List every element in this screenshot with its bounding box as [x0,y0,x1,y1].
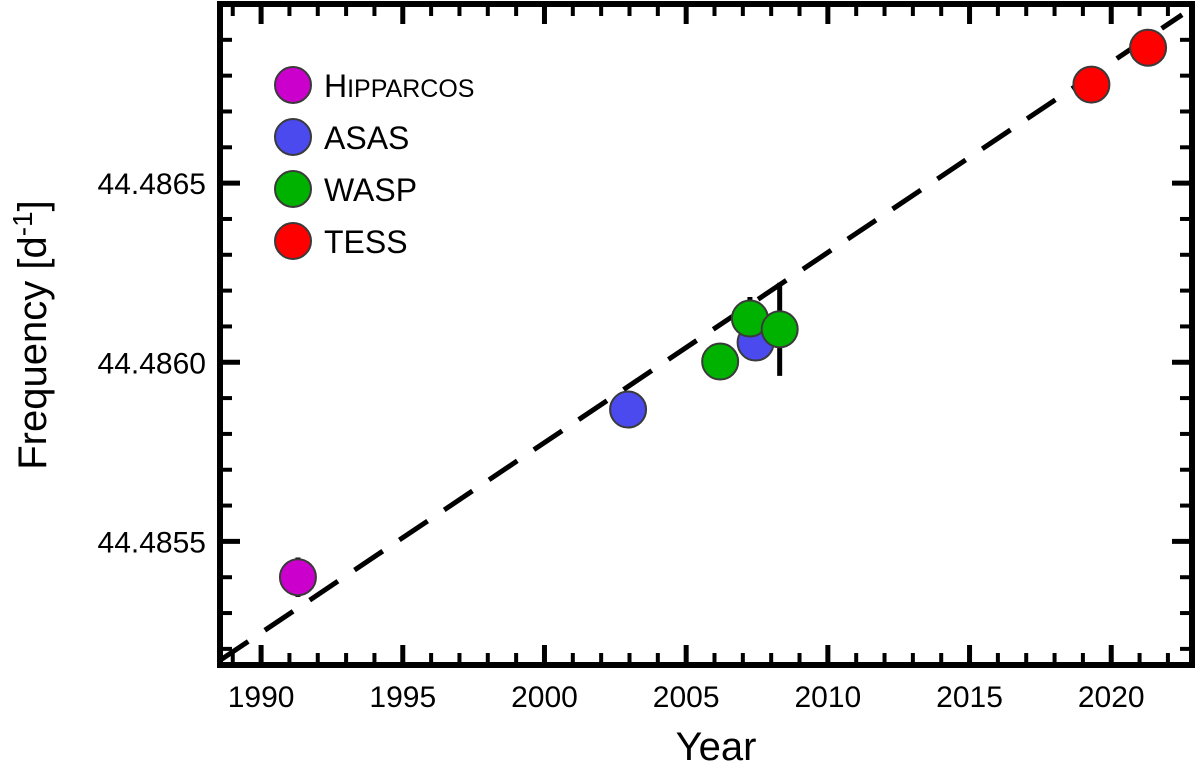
x-tick-label: 2015 [936,681,1003,714]
y-axis-title-tail: ] [11,200,55,211]
legend-marker-wasp [275,171,311,207]
x-tick-label: 2010 [794,681,861,714]
legend-marker-tess [275,223,311,259]
data-point-tess [1073,67,1109,103]
legend-marker-asas [275,119,311,155]
frequency-vs-year-scatter-plot: 1990199520002005201020152020 44.485544.4… [0,0,1200,770]
x-axis-title: Year [676,725,757,769]
x-tick-label: 1990 [228,681,295,714]
data-point-tess [1130,30,1166,66]
y-axis-title: Frequency [d-1] [7,200,55,470]
y-tick-label: 44.4860 [98,347,206,380]
svg-text:Frequency [d-1]: Frequency [d-1] [7,200,55,470]
legend-label-asas: ASAS [324,120,409,156]
x-tick-label: 1995 [369,681,436,714]
data-point-asas [610,392,646,428]
y-tick-label: 44.4855 [98,526,206,559]
x-tick-label: 2005 [653,681,720,714]
legend-label-tess: TESS [324,224,408,260]
legend-label-wasp: WASP [324,172,417,208]
data-point-hipparcos [280,559,316,595]
chart-figure: 1990199520002005201020152020 44.485544.4… [0,0,1200,770]
data-point-wasp [762,311,798,347]
data-point-wasp [702,344,738,380]
x-tick-label: 2020 [1078,681,1145,714]
y-axis-title-base: Frequency [d [11,236,55,469]
x-tick-label: 2000 [511,681,578,714]
y-axis-title-superscript: -1 [7,211,38,236]
legend-marker-hipparcos [275,67,311,103]
y-tick-label: 44.4865 [98,168,206,201]
